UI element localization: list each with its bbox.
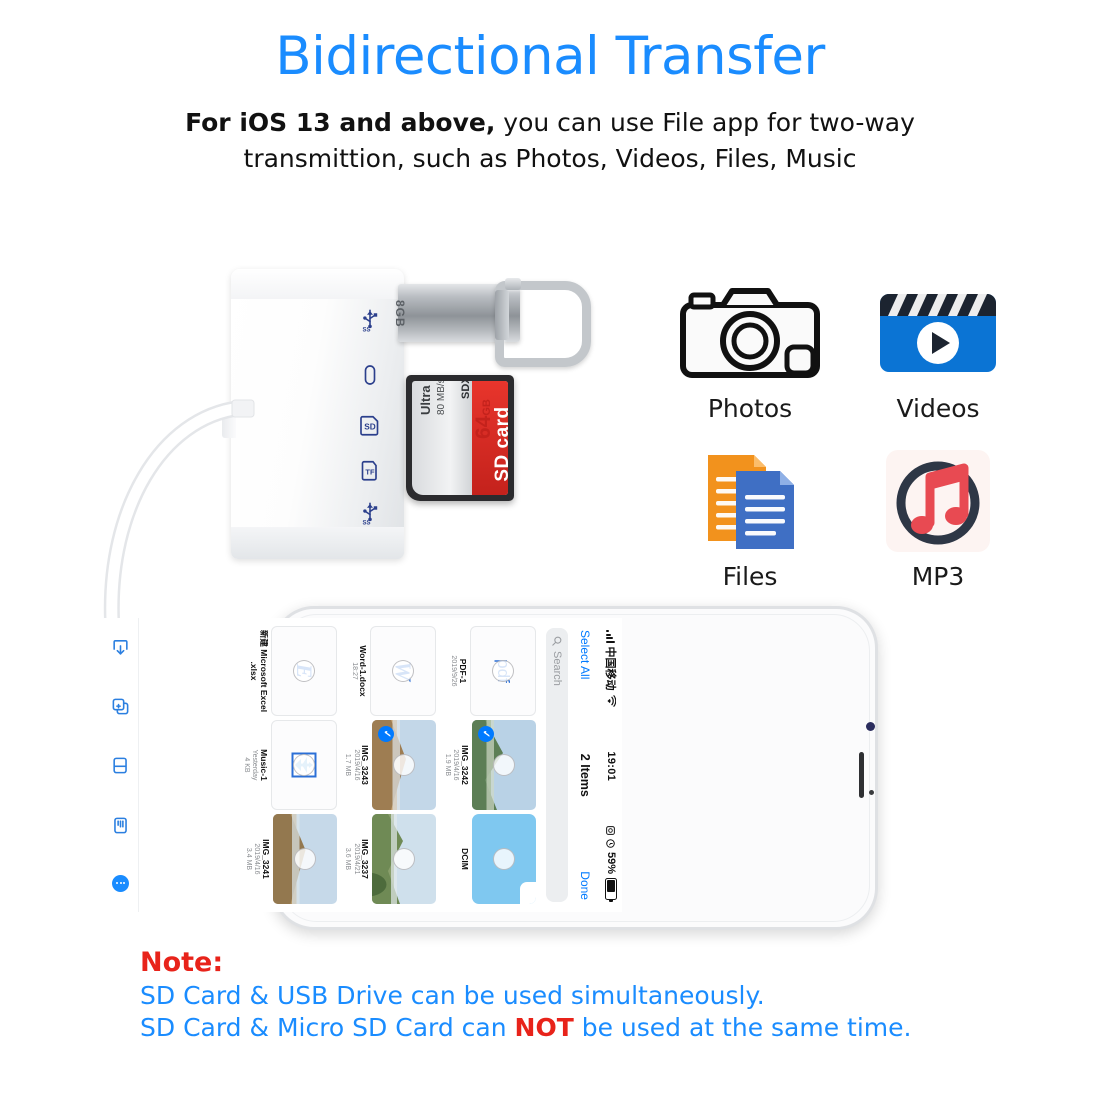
- list-item[interactable]: ✓ IMG_3243 2019/4/16 1.7 MB: [343, 720, 437, 810]
- list-item[interactable]: IMG_3237 2019/4/21 3.6 MB: [343, 814, 437, 904]
- media-label-videos: Videos: [853, 394, 1023, 423]
- file-meta-date: 2019/4/16: [252, 814, 260, 904]
- selected-checkmark-badge: ✓: [478, 726, 494, 742]
- file-name: IMG_3242: [459, 720, 469, 810]
- sd-card-format-label: SDXC: [460, 381, 472, 399]
- rotation-lock-icon: [607, 826, 616, 835]
- subtitle-bold: For iOS 13 and above,: [185, 108, 495, 137]
- sd-card-tier-label: Ultra: [418, 381, 433, 415]
- sd-card-face: SD card 64GB Ultra 80 MB/s SDXC: [412, 381, 508, 495]
- note-line-2-emphasis: NOT: [515, 1013, 574, 1042]
- file-thumbnail-photo: [273, 814, 337, 904]
- supported-media-icon-grid: Photos Videos: [655, 275, 1025, 605]
- battery-icon: [605, 878, 617, 900]
- file-meta-size: 3.6 MB: [343, 814, 351, 904]
- music-note-icon: [853, 443, 1023, 558]
- sd-card-capacity: 64GB: [472, 409, 496, 439]
- file-meta-size: 1.7 MB: [343, 720, 351, 810]
- file-meta-date: 2019/4/21: [351, 814, 359, 904]
- list-item[interactable]: IMG_3241 2019/4/16 3.4 MB: [241, 814, 337, 904]
- selected-items-count: 2 Items: [578, 754, 592, 797]
- usb-drive-carabiner-hook: [495, 281, 591, 367]
- selection-circle[interactable]: [393, 848, 415, 870]
- file-thumbnail-photo: ✓: [372, 720, 436, 810]
- carrier-name: 中国移动: [603, 647, 619, 691]
- selection-circle[interactable]: [493, 754, 515, 776]
- selection-circle[interactable]: [492, 660, 514, 682]
- camera-icon: [665, 275, 835, 390]
- media-type-photos: Photos: [665, 275, 835, 423]
- folder-thumbnail-dcim: [472, 814, 536, 904]
- selection-circle[interactable]: [294, 848, 316, 870]
- list-item[interactable]: DCIM: [442, 814, 536, 904]
- media-label-photos: Photos: [665, 394, 835, 423]
- file-meta-date: 2019/4/16: [351, 720, 359, 810]
- info-list-icon[interactable]: [112, 816, 131, 835]
- folder-icon[interactable]: [112, 756, 131, 775]
- media-label-mp3: MP3: [853, 562, 1023, 591]
- cellular-signal-icon: [607, 630, 616, 643]
- file-name: PDF-1: [457, 626, 467, 716]
- video-clapper-icon: [853, 275, 1023, 390]
- file-grid: pdf PDF-1 2019/9/26 ✓: [241, 618, 540, 912]
- file-thumbnail-pdf: pdf: [470, 626, 536, 716]
- search-input[interactable]: Search: [546, 628, 568, 902]
- selection-circle[interactable]: [293, 660, 315, 682]
- note-heading: Note:: [140, 946, 911, 980]
- selection-circle[interactable]: [493, 848, 515, 870]
- more-options-icon[interactable]: [113, 875, 130, 892]
- file-meta-size: 1.9 MB: [442, 720, 450, 810]
- media-type-mp3: MP3: [853, 443, 1023, 591]
- selection-circle[interactable]: [393, 754, 415, 776]
- file-thumbnail-word: W: [370, 626, 436, 716]
- tf-microsd-slot-icon: TF: [355, 455, 385, 485]
- documents-icon: [665, 443, 835, 558]
- list-item[interactable]: ✓ IMG_3242 2019/4/16 1.9 MB: [442, 720, 536, 810]
- file-thumbnail-music: [271, 720, 337, 810]
- note-line-2-post: be used at the same time.: [574, 1013, 912, 1042]
- usb-drive-hook-gate: [495, 290, 509, 340]
- media-label-files: Files: [665, 562, 835, 591]
- earpiece-speaker: [859, 752, 864, 798]
- status-bar-right: 59%: [605, 826, 617, 900]
- usb-c-port-icon: [355, 360, 385, 390]
- file-name: Music-1: [258, 720, 268, 810]
- proximity-sensor: [869, 790, 874, 795]
- status-bar: 中国移动 19:01 59%: [600, 618, 622, 912]
- page-title: Bidirectional Transfer: [0, 26, 1100, 87]
- file-meta-size: 4 KB: [241, 720, 249, 810]
- sd-card-brand-text: SD card: [492, 389, 508, 495]
- file-thumbnail-photo: ✓: [472, 720, 536, 810]
- usb-drive-hook-nub: [505, 278, 521, 290]
- file-name: 新建 Microsoft Excel .xlsx: [248, 626, 268, 716]
- done-button[interactable]: Done: [578, 871, 592, 900]
- search-icon: [552, 636, 562, 646]
- front-camera: [866, 722, 875, 731]
- sd-card-speed-label: 80 MB/s: [436, 381, 447, 415]
- note-line-2: SD Card & Micro SD Card can NOT be used …: [140, 1012, 911, 1045]
- svg-text:SS: SS: [363, 327, 371, 332]
- file-name: Word-1.docx: [358, 626, 368, 716]
- file-meta-date: 2019/9/26: [449, 626, 457, 716]
- svg-text:SS: SS: [363, 520, 371, 525]
- select-all-button[interactable]: Select All: [578, 630, 592, 679]
- status-bar-left: 中国移动: [603, 630, 619, 707]
- file-meta-date: 2019/4/16: [451, 720, 459, 810]
- svg-text:SD: SD: [364, 423, 376, 432]
- media-type-files: Files: [665, 443, 835, 591]
- share-export-icon[interactable]: [112, 638, 131, 657]
- list-item[interactable]: W Word-1.docx 18:27: [343, 626, 437, 716]
- media-type-videos: Videos: [853, 275, 1023, 423]
- file-thumbnail-photo: [372, 814, 436, 904]
- adapter-top-face: [231, 269, 404, 299]
- sd-card-slot-icon: SD: [355, 410, 385, 440]
- file-meta-date: Yesterday: [250, 720, 258, 810]
- file-thumbnail-excel: E: [271, 626, 337, 716]
- sd-memory-card: SD card 64GB Ultra 80 MB/s SDXC: [406, 375, 514, 501]
- usb-superspeed-icon-bottom: SS: [355, 495, 385, 525]
- search-placeholder-text: Search: [551, 651, 563, 686]
- sd-card-capacity-number: 64: [472, 416, 495, 439]
- svg-text:TF: TF: [365, 468, 375, 477]
- marketing-page: Bidirectional Transfer For iOS 13 and ab…: [0, 0, 1100, 1100]
- file-name: IMG_3241: [260, 814, 270, 904]
- note-block: Note: SD Card & USB Drive can be used si…: [140, 946, 911, 1045]
- wifi-icon: [606, 695, 616, 707]
- battery-percent: 59%: [605, 852, 617, 874]
- alarm-clock-icon: [607, 839, 616, 848]
- list-item[interactable]: E 新建 Microsoft Excel .xlsx: [241, 626, 337, 716]
- files-nav-bar: Select All 2 Items Done: [570, 618, 600, 912]
- note-line-1: SD Card & USB Drive can be used simultan…: [140, 980, 911, 1013]
- page-subtitle: For iOS 13 and above, you can use File a…: [150, 105, 950, 176]
- files-bottom-toolbar: [104, 618, 139, 912]
- selection-circle[interactable]: [293, 754, 315, 776]
- file-name: DCIM: [459, 814, 469, 904]
- folder-corner-tab: [520, 882, 536, 904]
- file-name: IMG_3243: [360, 720, 370, 810]
- selection-circle[interactable]: [392, 660, 414, 682]
- usb-drive-capacity-label: 8GB: [393, 300, 407, 328]
- file-meta-time: 18:27: [349, 626, 357, 716]
- list-item[interactable]: pdf PDF-1 2019/9/26: [442, 626, 536, 716]
- note-line-2-pre: SD Card & Micro SD Card can: [140, 1013, 515, 1042]
- sd-card-capacity-unit: GB: [481, 399, 493, 416]
- file-name: IMG_3237: [360, 814, 370, 904]
- phone-screen-files-app: 中国移动 19:01 59%: [104, 618, 622, 912]
- status-bar-time: 19:01: [605, 707, 617, 826]
- duplicate-add-icon[interactable]: [112, 697, 131, 716]
- file-meta-size: 3.4 MB: [243, 814, 251, 904]
- list-item[interactable]: Music-1 Yesterday 4 KB: [241, 720, 337, 810]
- usb-superspeed-icon-top: SS: [355, 302, 385, 332]
